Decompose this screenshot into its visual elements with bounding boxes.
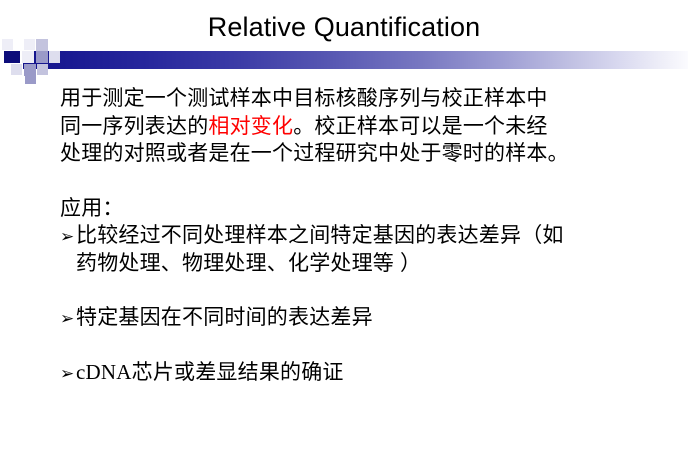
- decor-square: [4, 51, 20, 63]
- decor-square: [2, 39, 13, 50]
- intro-paragraph: 用于测定一个测试样本中目标核酸序列与校正样本中 同一序列表达的相对变化。校正样本…: [60, 85, 676, 168]
- list-item-label: cDNA芯片或差显结果的确证: [76, 359, 676, 387]
- spacer: [60, 332, 676, 359]
- arrow-bullet-icon: ➢: [60, 360, 76, 388]
- arrow-bullet-icon: ➢: [60, 223, 76, 251]
- slide-body: 用于测定一个测试样本中目标核酸序列与校正样本中 同一序列表达的相对变化。校正样本…: [60, 85, 676, 386]
- decor-square: [36, 39, 48, 51]
- decor-square: [25, 76, 36, 84]
- gradient-bar: [23, 51, 688, 69]
- list-item-label: 比较经过不同处理样本之间特定基因的表达差异（如 药物处理、物理处理、化学处理等 …: [76, 222, 676, 277]
- bullet-1-line-2: 药物处理、物理处理、化学处理等 ）: [76, 252, 421, 275]
- decor-square: [24, 39, 35, 50]
- intro-line-3: 处理的对照或者是在一个过程研究中处于零时的样本。: [60, 142, 569, 165]
- decor-square: [22, 51, 34, 63]
- intro-line-2-before: 同一序列表达的: [60, 115, 208, 138]
- list-item-label: 特定基因在不同时间的表达差异: [76, 304, 676, 332]
- list-item: ➢ cDNA芯片或差显结果的确证: [60, 359, 676, 387]
- slide-canvas: Relative Quantification 用于测定一个测试样本中目标核酸序…: [0, 0, 688, 471]
- decor-square: [49, 51, 60, 63]
- spacer: [60, 277, 676, 304]
- bullet-1-line-1: 比较经过不同处理样本之间特定基因的表达差异（如: [76, 224, 564, 247]
- applications-label: 应用：: [60, 195, 676, 223]
- decor-square: [37, 64, 48, 75]
- list-item: ➢ 比较经过不同处理样本之间特定基因的表达差异（如 药物处理、物理处理、化学处理…: [60, 222, 676, 277]
- decor-square: [36, 51, 48, 63]
- decor-square: [11, 64, 22, 75]
- bullet-3-line-1: 芯片或差显结果的确证: [132, 361, 344, 384]
- bullet-3-latin: cDNA: [76, 360, 132, 384]
- intro-line-2-after: 。校正样本可以是一个未经: [293, 115, 547, 138]
- arrow-bullet-icon: ➢: [60, 305, 76, 333]
- spacer: [60, 168, 676, 195]
- list-item: ➢ 特定基因在不同时间的表达差异: [60, 304, 676, 332]
- decor-square: [24, 64, 36, 76]
- highlight-phrase: 相对变化: [208, 115, 293, 138]
- title-decoration: [0, 36, 688, 84]
- intro-line-1: 用于测定一个测试样本中目标核酸序列与校正样本中: [60, 87, 548, 110]
